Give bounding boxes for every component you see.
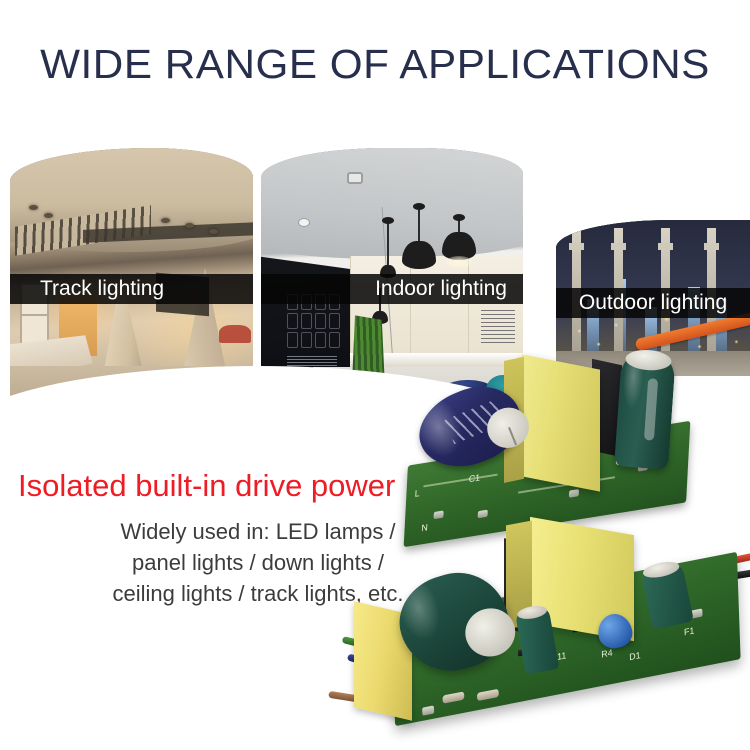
pendant-ceiling-cap	[453, 214, 465, 221]
recessed-downlight-icon	[347, 172, 363, 184]
product-headline: Isolated built-in drive power	[18, 466, 395, 506]
pendant-shade	[402, 241, 436, 269]
street-light-head	[611, 243, 626, 250]
solder-pad	[422, 706, 434, 716]
wall-icon	[287, 332, 298, 348]
track-spotlight-icon	[209, 229, 218, 234]
wall-sign	[481, 310, 515, 345]
solder-pad	[569, 489, 579, 498]
capacitor-sleeve-marking	[644, 378, 658, 441]
capacitor-top-vent	[642, 559, 681, 580]
axial-resistor	[477, 689, 499, 701]
wall-icon	[301, 332, 312, 348]
electrolytic-capacitor-green	[614, 350, 676, 469]
track-spotlight-icon	[44, 213, 53, 218]
ceiling-surface	[261, 148, 523, 259]
wall-icon	[315, 313, 326, 329]
pendant-lamp	[387, 221, 389, 270]
pendant-ceiling-cap	[382, 217, 394, 224]
red-furniture	[219, 325, 251, 343]
wall-icon	[315, 332, 326, 348]
panel-caption-label: Track lighting	[10, 274, 164, 304]
solder-pad	[433, 510, 443, 519]
panel-caption-label: Indoor lighting	[375, 274, 523, 304]
pendant-lamp	[418, 207, 420, 250]
street-light-head	[658, 243, 673, 250]
transformer-yellow	[522, 354, 600, 491]
capacitor-top-vent	[625, 349, 672, 372]
pcb-trace	[424, 474, 498, 488]
silkscreen-label: C1	[469, 472, 481, 484]
panel-caption-bar: Outdoor lighting	[556, 288, 750, 318]
recessed-downlight-icon	[298, 218, 310, 227]
pendant-lamp	[458, 218, 460, 242]
silkscreen-label: D1	[629, 650, 641, 662]
led-driver-board-lower[interactable]: N R4 D1 C2 F1 C011	[352, 524, 750, 750]
wall-icon	[329, 313, 340, 329]
solder-pad	[478, 510, 488, 519]
street-light-head	[569, 243, 584, 250]
panel-caption-bar: Track lighting	[10, 274, 253, 304]
application-banner: WIDE RANGE OF APPLICATIONS	[0, 0, 750, 750]
wall-icon	[301, 313, 312, 329]
panel-caption-label: Outdoor lighting	[579, 288, 727, 318]
track-spotlight-icon	[161, 218, 170, 223]
silkscreen-label: R4	[601, 647, 613, 659]
lamp-glow	[446, 256, 472, 268]
wall-icon	[287, 313, 298, 329]
street-light-head	[704, 243, 719, 250]
panel-caption-bar: Indoor lighting	[261, 274, 523, 304]
silkscreen-label: F1	[684, 625, 695, 637]
page-title: WIDE RANGE OF APPLICATIONS	[0, 38, 750, 90]
silkscreen-label: L	[415, 488, 420, 499]
axial-resistor	[443, 691, 465, 703]
wall-icon	[329, 332, 340, 348]
night-sky	[556, 220, 750, 295]
